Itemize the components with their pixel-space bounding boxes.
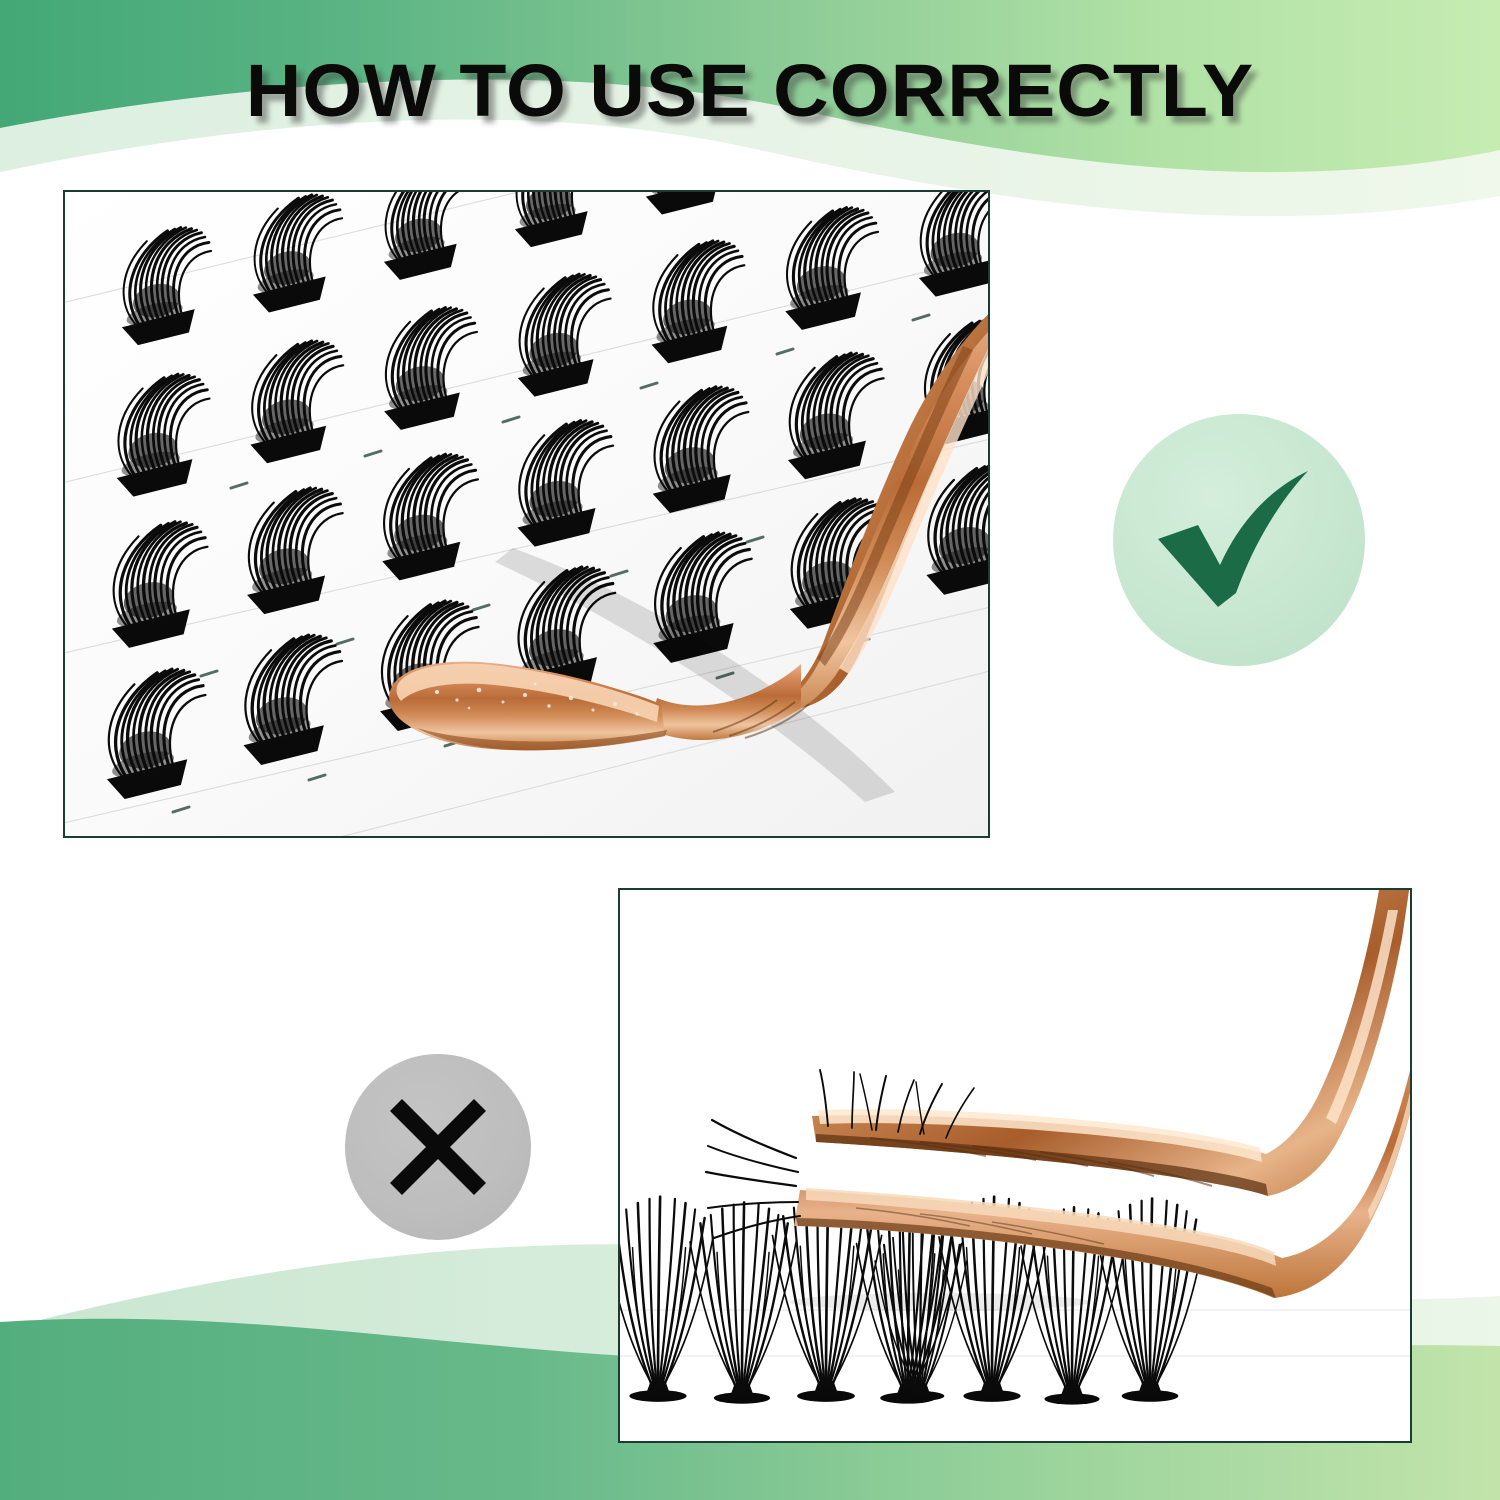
- lash-side-view-illustration: [620, 890, 1410, 1441]
- infographic-canvas: HOW TO USE CORRECTLY: [0, 0, 1500, 1500]
- photo-bottom-inner: [620, 890, 1410, 1441]
- cross-icon: [345, 1054, 531, 1240]
- check-icon: [1113, 414, 1365, 666]
- correct-example-photo: [63, 190, 990, 838]
- lash-tray-illustration: [65, 192, 988, 836]
- photo-top-inner: [65, 192, 988, 836]
- incorrect-example-photo: [618, 888, 1412, 1443]
- checkmark-glyph: [1154, 465, 1324, 615]
- page-title: HOW TO USE CORRECTLY: [0, 52, 1500, 130]
- x-mark-glyph: [384, 1093, 492, 1201]
